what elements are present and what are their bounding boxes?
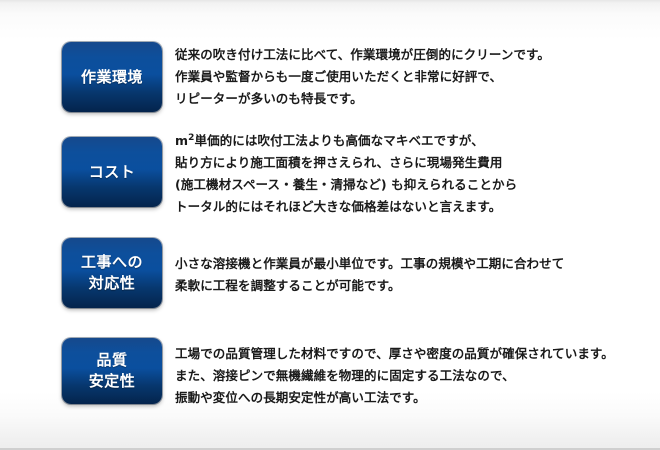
feature-badge[interactable]: 品質 安定性 (62, 338, 162, 404)
feature-description-line: また、溶接ピンで無機繊維を物理的に固定する工法なので、 (175, 365, 645, 387)
feature-badge[interactable]: 作業環境 (62, 42, 162, 112)
feature-badge-label: 工事への 対応性 (81, 252, 143, 294)
feature-description-line: 作業員や監督からも一度ご使用いただくと非常に好評で、 (175, 66, 645, 88)
feature-badge-label: 作業環境 (81, 67, 143, 88)
feature-description-line: 小さな溶接機と作業員が最小単位です。工事の規模や工期に合わせて (175, 253, 645, 275)
feature-description: 従来の吹き付け工法に比べて、作業環境が圧倒的にクリーンです。作業員や監督からも一… (175, 44, 645, 110)
feature-description-line: 振動や変位への長期安定性が高い工法です。 (175, 387, 645, 409)
feature-description-line: (施工機材スペース・養生・清掃など) も抑えられることから (175, 174, 645, 196)
feature-list: 作業環境従来の吹き付け工法に比べて、作業環境が圧倒的にクリーンです。作業員や監督… (0, 0, 660, 450)
feature-description-line: リピーターが多いのも特長です。 (175, 88, 645, 110)
feature-description-line: 貼り方により施工面積を押さえられ、さらに現場発生費用 (175, 152, 645, 174)
feature-badge-label: コスト (89, 162, 136, 183)
feature-description: 小さな溶接機と作業員が最小単位です。工事の規模や工期に合わせて柔軟に工程を調整す… (175, 253, 645, 297)
feature-description-line: トータル的にはそれほど大きな価格差はないと言えます。 (175, 196, 645, 218)
feature-description: m2単価的には吹付工法よりも高価なマキベエですが、貼り方により施工面積を押さえら… (175, 130, 645, 218)
unit-base: m (175, 133, 188, 148)
feature-badge[interactable]: 工事への 対応性 (62, 238, 162, 308)
feature-badge[interactable]: コスト (62, 137, 162, 207)
feature-description-line: 柔軟に工程を調整することが可能です。 (175, 275, 645, 297)
feature-description-line: 工場での品質管理した材料ですので、厚さや密度の品質が確保されています。 (175, 343, 645, 365)
feature-badge-label: 品質 安定性 (89, 350, 136, 392)
feature-description-line: m2単価的には吹付工法よりも高価なマキベエですが、 (175, 130, 645, 152)
feature-description-line: 従来の吹き付け工法に比べて、作業環境が圧倒的にクリーンです。 (175, 44, 645, 66)
feature-description: 工場での品質管理した材料ですので、厚さや密度の品質が確保されています。また、溶接… (175, 343, 645, 409)
unit-rest: 単価的には吹付工法よりも高価なマキベエですが、 (195, 133, 484, 148)
